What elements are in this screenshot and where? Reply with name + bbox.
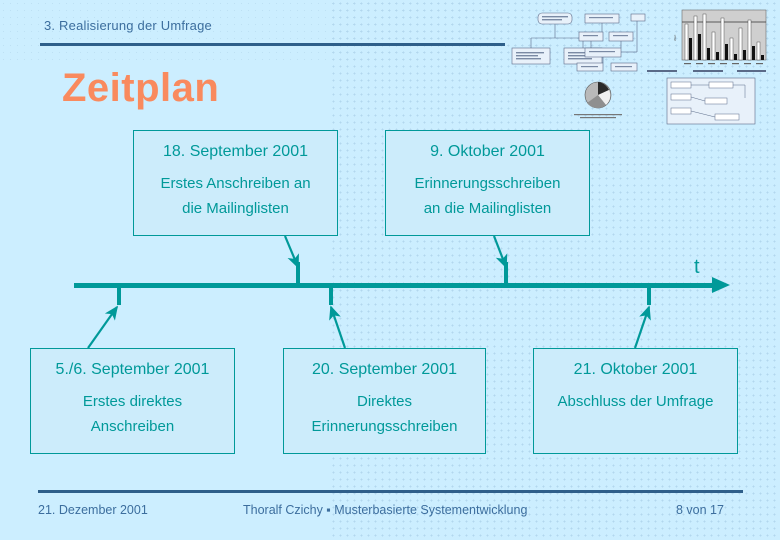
footer-date: 21. Dezember 2001 (38, 503, 148, 517)
pie-chart-thumbnail (570, 78, 626, 120)
timeline-axis-arrowhead (712, 277, 730, 293)
footer-page-number: 8 von 17 (676, 503, 724, 517)
event-box-above-2[interactable]: 9. Oktober 2001 Erinnerungsschreiben an … (385, 130, 590, 236)
slide-canvas: 3. Realisierung der Umfrage Zeitplan (0, 0, 780, 540)
event-box-below-3[interactable]: 21. Oktober 2001 Abschluss der Umfrage (533, 348, 738, 454)
section-label: 3. Realisierung der Umfrage (44, 18, 212, 33)
event-description: Abschluss der Umfrage (534, 389, 737, 414)
event-box-above-1[interactable]: 18. September 2001 Erstes Anschreiben an… (133, 130, 338, 236)
timeline-axis-label: t (694, 256, 700, 279)
page-title: Zeitplan (62, 66, 219, 111)
event-date: 9. Oktober 2001 (386, 141, 589, 163)
timeline-tick-3 (329, 287, 333, 305)
bar-chart-thumbnail: Wert (672, 8, 768, 70)
event-description-line: Erstes direktes (37, 389, 228, 414)
event-box-below-2[interactable]: 20. September 2001 Direktes Erinnerungss… (283, 348, 486, 454)
event-date: 5./6. September 2001 (31, 359, 234, 381)
event-description-line: Direktes (290, 389, 479, 414)
event-description: Direktes Erinnerungsschreiben (284, 389, 485, 439)
timeline-tick-5 (647, 287, 651, 305)
event-date: 20. September 2001 (284, 359, 485, 381)
form-table-thumbnail (645, 68, 768, 126)
flowchart-thumbnail (575, 12, 647, 74)
event-description-line: Erstes Anschreiben an (140, 171, 331, 196)
timeline-axis (74, 283, 714, 288)
event-description-line: Erinnerungsschreiben (290, 414, 479, 439)
footer-divider (38, 490, 743, 493)
event-description-line: Abschluss der Umfrage (540, 389, 731, 414)
event-description-line: Erinnerungsschreiben (392, 171, 583, 196)
footer-author: Thoralf Czichy ▪ Musterbasierte Systemen… (243, 503, 527, 517)
event-description: Erstes direktes Anschreiben (31, 389, 234, 439)
event-box-below-1[interactable]: 5./6. September 2001 Erstes direktes Ans… (30, 348, 235, 454)
event-description-line: an die Mailinglisten (392, 196, 583, 221)
timeline-tick-1 (117, 287, 121, 305)
event-description: Erinnerungsschreiben an die Mailingliste… (386, 171, 589, 221)
svg-text:Wert: Wert (673, 35, 677, 41)
event-date: 21. Oktober 2001 (534, 359, 737, 381)
event-description: Erstes Anschreiben an die Mailinglisten (134, 171, 337, 221)
event-date: 18. September 2001 (134, 141, 337, 163)
header-divider (40, 43, 505, 46)
event-description-line: Anschreiben (37, 414, 228, 439)
timeline-tick-4 (504, 262, 508, 284)
event-description-line: die Mailinglisten (140, 196, 331, 221)
timeline-tick-2 (296, 262, 300, 284)
